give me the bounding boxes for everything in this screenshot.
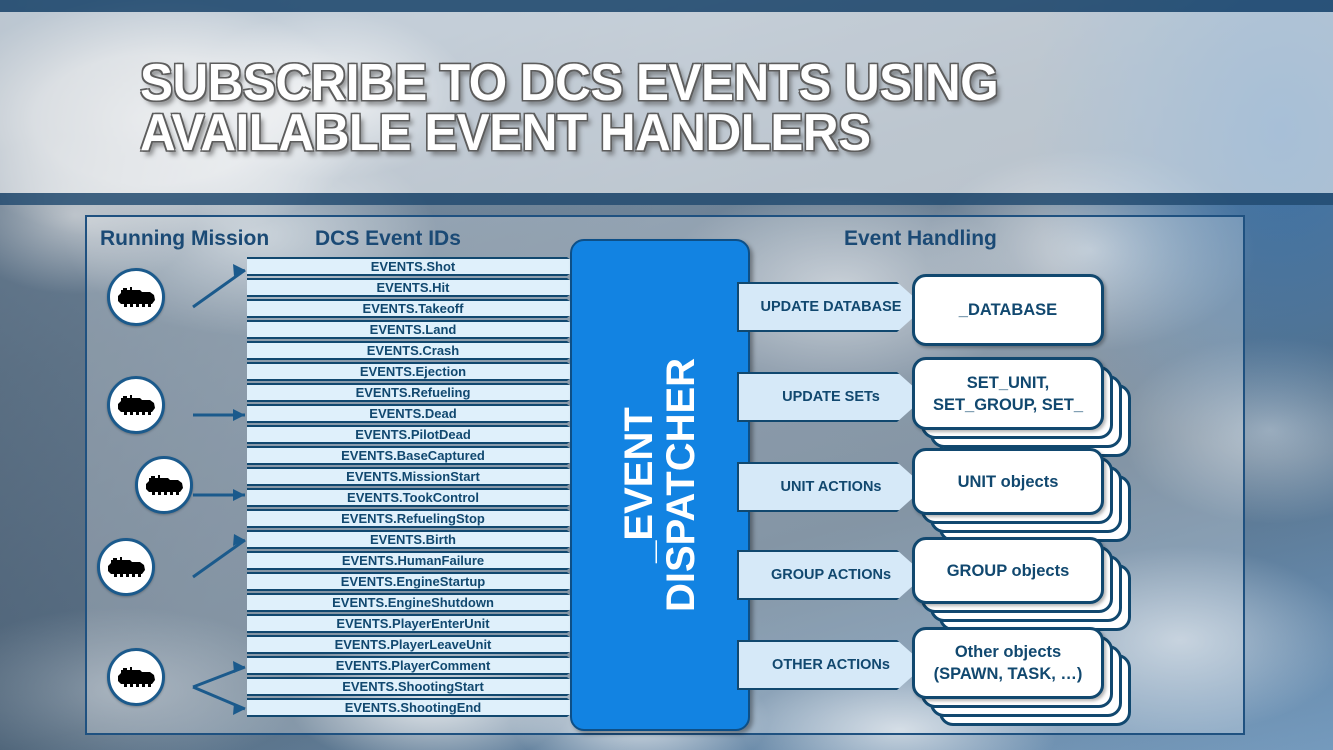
event-row[interactable]: EVENTS.ShootingEnd xyxy=(247,698,579,717)
heading-dcs-event-ids: DCS Event IDs xyxy=(315,227,461,251)
event-row[interactable]: EVENTS.Land xyxy=(247,320,579,339)
event-row[interactable]: EVENTS.MissionStart xyxy=(247,467,579,486)
diagram-panel: Running Mission DCS Event IDs Event Hand… xyxy=(85,215,1245,735)
action-arrow[interactable]: GROUP ACTIONs xyxy=(737,550,925,600)
event-row[interactable]: EVENTS.Refueling xyxy=(247,383,579,402)
event-id-list: EVENTS.ShotEVENTS.HitEVENTS.TakeoffEVENT… xyxy=(247,257,579,719)
page-title: SUBSCRIBE TO DCS EVENTS USING AVAILABLE … xyxy=(140,58,1166,158)
vehicle-circle-5[interactable] xyxy=(107,648,165,706)
event-row[interactable]: EVENTS.Ejection xyxy=(247,362,579,381)
handler-object-card[interactable]: Other objects (SPAWN, TASK, …) xyxy=(912,627,1104,699)
event-row[interactable]: EVENTS.Hit xyxy=(247,278,579,297)
action-arrow[interactable]: UNIT ACTIONs xyxy=(737,462,925,512)
event-row[interactable]: EVENTS.TookControl xyxy=(247,488,579,507)
event-row[interactable]: EVENTS.Crash xyxy=(247,341,579,360)
action-arrow[interactable]: OTHER ACTIONs xyxy=(737,640,925,690)
event-row[interactable]: EVENTS.HumanFailure xyxy=(247,551,579,570)
event-row[interactable]: EVENTS.PlayerComment xyxy=(247,656,579,675)
heading-event-handling: Event Handling xyxy=(844,227,997,251)
armored-vehicle-icon xyxy=(114,664,158,690)
event-row[interactable]: EVENTS.PlayerEnterUnit xyxy=(247,614,579,633)
action-arrow[interactable]: UPDATE SETs xyxy=(737,372,925,422)
title-top-strip xyxy=(0,0,1333,12)
event-row[interactable]: EVENTS.Dead xyxy=(247,404,579,423)
handler-card-stack: UNIT objects xyxy=(912,448,1142,551)
vehicle-circle-2[interactable] xyxy=(107,376,165,434)
title-bottom-strip xyxy=(0,193,1333,205)
event-row[interactable]: EVENTS.Takeoff xyxy=(247,299,579,318)
action-arrow[interactable]: UPDATE DATABASE xyxy=(737,282,925,332)
event-row[interactable]: EVENTS.Shot xyxy=(247,257,579,276)
event-dispatcher-block[interactable]: _EVENT DISPATCHER xyxy=(570,239,750,731)
armored-vehicle-icon xyxy=(114,392,158,418)
handler-card-stack: Other objects (SPAWN, TASK, …) xyxy=(912,627,1142,735)
event-row[interactable]: EVENTS.EngineStartup xyxy=(247,572,579,591)
event-row[interactable]: EVENTS.EngineShutdown xyxy=(247,593,579,612)
vehicle-circle-4[interactable] xyxy=(97,538,155,596)
event-dispatcher-label: _EVENT DISPATCHER xyxy=(618,358,702,612)
vehicle-circle-3[interactable] xyxy=(135,456,193,514)
handler-object-card[interactable]: GROUP objects xyxy=(912,537,1104,604)
armored-vehicle-icon xyxy=(104,554,148,580)
handler-object-card[interactable]: UNIT objects xyxy=(912,448,1104,515)
vehicle-circle-1[interactable] xyxy=(107,268,165,326)
heading-running-mission: Running Mission xyxy=(100,227,269,251)
handler-object-card[interactable]: SET_UNIT, SET_GROUP, SET_ xyxy=(912,357,1104,430)
event-row[interactable]: EVENTS.RefuelingStop xyxy=(247,509,579,528)
handler-object-card[interactable]: _DATABASE xyxy=(912,274,1104,346)
event-row[interactable]: EVENTS.PlayerLeaveUnit xyxy=(247,635,579,654)
handler-card-stack: GROUP objects xyxy=(912,537,1142,640)
event-row[interactable]: EVENTS.ShootingStart xyxy=(247,677,579,696)
armored-vehicle-icon xyxy=(142,472,186,498)
armored-vehicle-icon xyxy=(114,284,158,310)
event-row[interactable]: EVENTS.Birth xyxy=(247,530,579,549)
event-row[interactable]: EVENTS.BaseCaptured xyxy=(247,446,579,465)
title-banner: SUBSCRIBE TO DCS EVENTS USING AVAILABLE … xyxy=(0,12,1333,193)
event-row[interactable]: EVENTS.PilotDead xyxy=(247,425,579,444)
